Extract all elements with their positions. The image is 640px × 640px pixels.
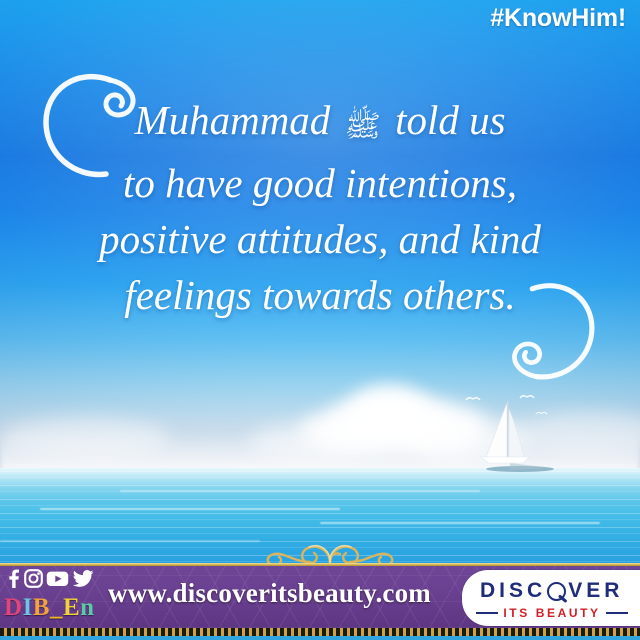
twitter-icon[interactable] bbox=[72, 569, 94, 588]
water-ripples bbox=[40, 508, 340, 510]
handle-letter: E bbox=[63, 594, 80, 621]
quote-text: Muhammad ﷺ told us to have good intentio… bbox=[0, 92, 640, 323]
handle-letter: D bbox=[4, 594, 23, 621]
handle-letter: B bbox=[33, 594, 50, 621]
magnifier-icon bbox=[546, 580, 568, 602]
discover-logo[interactable]: DISCVER ITS BEAUTY bbox=[462, 570, 640, 626]
poster-canvas: #KnowHim! Muhammad ﷺ told us to have goo… bbox=[0, 0, 640, 640]
sailboat-icon bbox=[466, 395, 556, 477]
logo-rule-right bbox=[606, 612, 628, 614]
instagram-icon[interactable] bbox=[24, 569, 43, 588]
bottom-dash-strip bbox=[0, 628, 640, 636]
quote-line: feelings towards others. bbox=[0, 267, 640, 323]
water-ripples bbox=[120, 490, 480, 492]
brand-handle[interactable]: DIB_En bbox=[4, 594, 95, 622]
quote-line-part: Muhammad bbox=[134, 97, 340, 143]
logo-rule-left bbox=[476, 612, 498, 614]
bird-icon bbox=[519, 393, 535, 401]
logo-wordmark: DISCVER bbox=[480, 579, 640, 603]
logo-letter: D bbox=[480, 579, 499, 603]
handle-letter: _ bbox=[50, 594, 63, 621]
bird-icon bbox=[465, 395, 481, 403]
cloud-shape bbox=[352, 386, 426, 432]
logo-letter: R bbox=[604, 579, 623, 603]
logo-letter: I bbox=[499, 579, 509, 603]
quote-line: to have good intentions, bbox=[0, 155, 640, 211]
quote-line: Muhammad ﷺ told us bbox=[0, 92, 640, 155]
logo-letter: C bbox=[527, 579, 546, 603]
logo-letter: V bbox=[568, 579, 586, 603]
logo-letter: S bbox=[509, 579, 527, 603]
social-icons[interactable] bbox=[6, 569, 94, 588]
handle-letter: n bbox=[80, 594, 94, 621]
quote-line: positive attitudes, and kind bbox=[0, 211, 640, 267]
facebook-icon[interactable] bbox=[6, 569, 21, 588]
water-ripples bbox=[320, 522, 600, 524]
logo-subtitle-text: ITS BEAUTY bbox=[503, 606, 600, 620]
sallallahu-symbol: ﷺ bbox=[341, 109, 385, 144]
bird-icon bbox=[535, 410, 548, 417]
bottom-edge bbox=[0, 636, 640, 640]
hashtag-label: #KnowHim! bbox=[490, 4, 626, 33]
logo-subtitle: ITS BEAUTY bbox=[476, 606, 628, 620]
quote-line-part: told us bbox=[385, 97, 506, 143]
website-url[interactable]: www.discoveritsbeauty.com bbox=[108, 578, 468, 609]
youtube-icon[interactable] bbox=[46, 569, 69, 588]
logo-letter: E bbox=[586, 579, 604, 603]
handle-letter: I bbox=[23, 594, 33, 621]
